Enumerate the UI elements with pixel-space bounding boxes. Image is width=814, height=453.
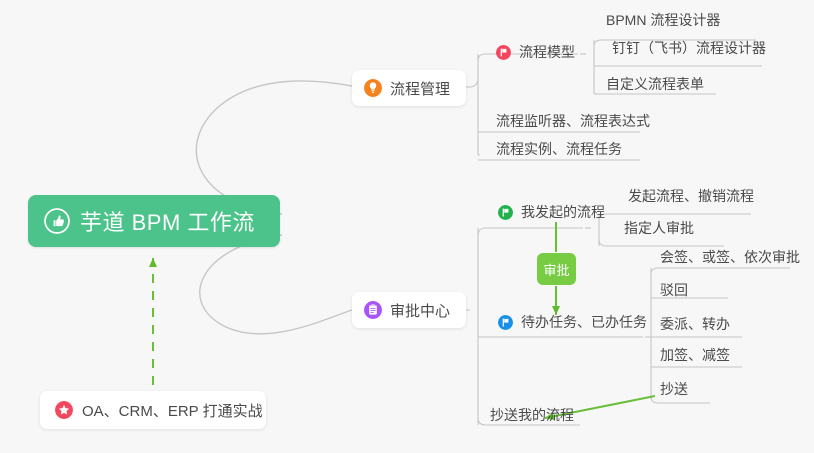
star-icon: [55, 401, 73, 419]
node-label: 抄送我的流程: [490, 407, 574, 423]
node-add-remove-sign[interactable]: 加签、减签: [656, 347, 734, 367]
node-label: 流程监听器、流程表达式: [496, 113, 650, 129]
node-label: 自定义流程表单: [606, 76, 704, 92]
node-bpmn-designer[interactable]: BPMN 流程设计器: [602, 12, 724, 32]
node-label: 钉钉（飞书）流程设计器: [612, 40, 766, 56]
branch-label: 审批中心: [390, 300, 450, 321]
node-cc-to-me[interactable]: 抄送我的流程: [486, 407, 578, 427]
flag-blue-icon: [498, 315, 513, 330]
node-my-initiated[interactable]: 我发起的流程: [494, 204, 609, 224]
wire-root-to-approval-center: [200, 235, 352, 334]
node-label: 驳回: [660, 282, 688, 298]
node-label: 发起流程、撤销流程: [628, 188, 754, 204]
node-process-instance[interactable]: 流程实例、流程任务: [492, 141, 626, 161]
node-reject[interactable]: 驳回: [656, 282, 692, 302]
node-dingtalk-designer[interactable]: 钉钉（飞书）流程设计器: [608, 40, 770, 60]
approval-badge-label: 审批: [543, 260, 569, 279]
mindmap-canvas: 芋道 BPM 工作流 流程管理 审批中心 流程模型: [0, 0, 814, 453]
node-process-listener[interactable]: 流程监听器、流程表达式: [492, 113, 654, 133]
node-cc[interactable]: 抄送: [656, 381, 692, 401]
branch-approval-center[interactable]: 审批中心: [352, 292, 466, 328]
clipboard-icon: [364, 301, 382, 319]
node-start-cancel-process[interactable]: 发起流程、撤销流程: [624, 188, 758, 208]
approval-badge[interactable]: 审批: [537, 253, 576, 285]
node-label: 委派、转办: [660, 316, 730, 332]
node-label: BPMN 流程设计器: [606, 12, 720, 28]
node-label: 待办任务、已办任务: [521, 314, 647, 330]
branch-process-management[interactable]: 流程管理: [352, 70, 466, 106]
node-label: 流程实例、流程任务: [496, 141, 622, 157]
wire-ac-child-1: [478, 228, 583, 236]
node-process-model[interactable]: 流程模型: [492, 44, 579, 64]
flag-red-icon: [496, 45, 511, 60]
node-designated-approver[interactable]: 指定人审批: [620, 220, 698, 240]
node-todo-done-tasks[interactable]: 待办任务、已办任务: [494, 314, 651, 334]
wire-pm-spine: [478, 54, 480, 155]
root-label: 芋道 BPM 工作流: [80, 205, 255, 237]
node-label: 会签、或签、依次审批: [660, 249, 800, 265]
wire-mine-child-2: [599, 240, 724, 246]
lightbulb-icon: [364, 79, 382, 97]
wire-pm-join: [470, 79, 478, 87]
node-delegate-transfer[interactable]: 委派、转办: [656, 316, 734, 336]
node-label: 加签、减签: [660, 347, 730, 363]
callout-label: OA、CRM、ERP 打通实战: [82, 400, 263, 421]
flag-green-icon: [498, 205, 513, 220]
node-label: 抄送: [660, 381, 688, 397]
root-node[interactable]: 芋道 BPM 工作流: [28, 195, 280, 247]
callout-node[interactable]: OA、CRM、ERP 打通实战: [40, 391, 266, 429]
node-label: 我发起的流程: [521, 204, 605, 220]
node-label: 指定人审批: [624, 220, 694, 236]
node-label: 流程模型: [519, 44, 575, 60]
thumbs-up-icon: [44, 208, 70, 234]
node-countersign[interactable]: 会签、或签、依次审批: [656, 249, 804, 269]
node-custom-form[interactable]: 自定义流程表单: [602, 76, 708, 96]
branch-label: 流程管理: [390, 78, 450, 99]
